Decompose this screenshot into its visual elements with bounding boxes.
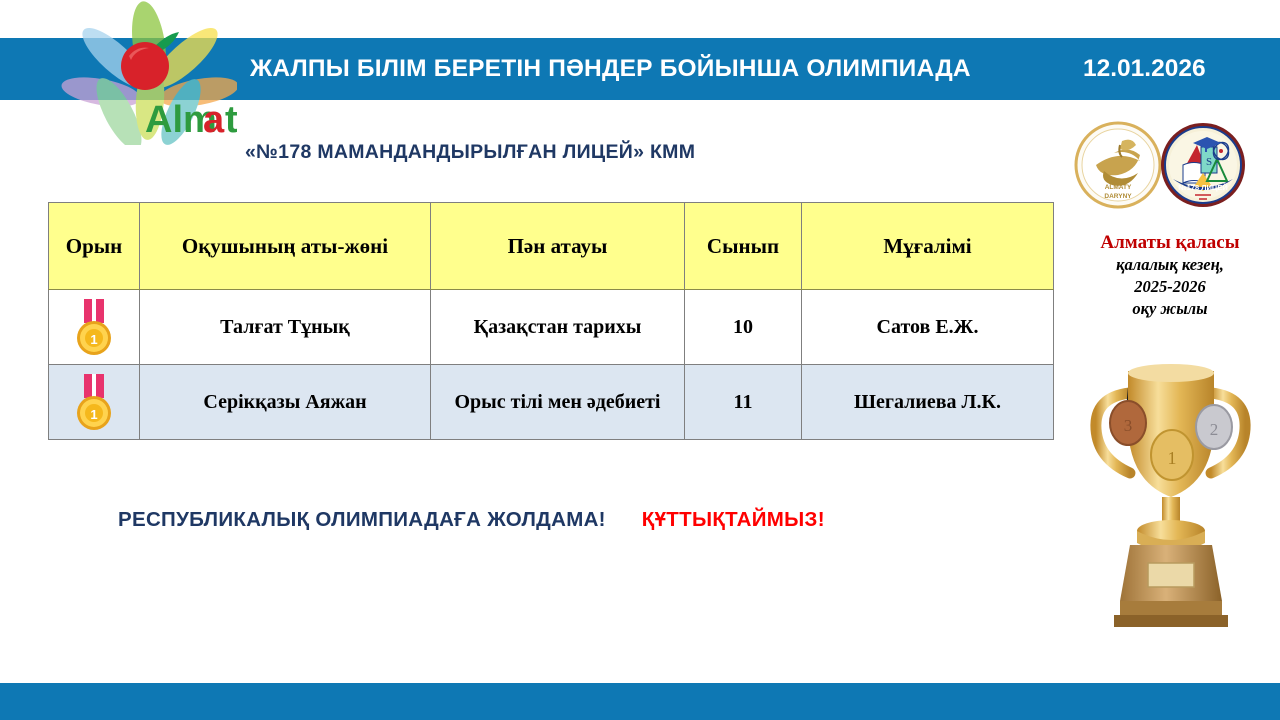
city-label: Алматы қаласы (1060, 232, 1280, 254)
gold-trophy-icon: 3 2 1 (1068, 345, 1273, 635)
column-header-grade: Сынып (685, 203, 802, 290)
svg-text:1: 1 (90, 332, 97, 347)
column-header-place: Орын (49, 203, 140, 290)
column-header-student: Оқушының аты-жөні (140, 203, 431, 290)
svg-text:a: a (203, 99, 225, 141)
svg-text:S: S (1206, 156, 1212, 168)
cell-student: Серікқазы Аяжан (140, 365, 431, 440)
republic-olympiad-message: РЕСПУБЛИКАЛЫҚ ОЛИМПИАДАҒА ЖОЛДАМА! (118, 508, 606, 531)
svg-text:3: 3 (1124, 416, 1133, 435)
svg-text:2: 2 (1210, 420, 1219, 439)
event-date: 12.01.2026 (1083, 52, 1206, 86)
cell-grade: 11 (685, 365, 802, 440)
cell-grade: 10 (685, 290, 802, 365)
cell-student: Талғат Тұнық (140, 290, 431, 365)
svg-text:1: 1 (90, 407, 97, 422)
footer-message-row: РЕСПУБЛИКАЛЫҚ ОЛИМПИАДАҒА ЖОЛДАМА!ҚҰТТЫҚ… (118, 508, 825, 532)
svg-text:1: 1 (1168, 448, 1177, 468)
cell-place: 1 (49, 365, 140, 440)
page-title: ЖАЛПЫ БІЛІМ БЕРЕТІН ПӘНДЕР БОЙЫНША ОЛИМП… (250, 52, 1030, 86)
column-header-subject: Пән атауы (431, 203, 685, 290)
lyceum-178-badge-icon: S №178 ЛИЦЕЙ (1159, 121, 1247, 209)
svg-text:ALMATY: ALMATY (1105, 184, 1132, 191)
footer-banner (0, 683, 1280, 720)
svg-text:№178 ЛИЦЕЙ: №178 ЛИЦЕЙ (1178, 183, 1227, 192)
cell-subject: Қазақстан тарихы (431, 290, 685, 365)
cell-subject: Орыс тілі мен әдебиеті (431, 365, 685, 440)
almaty-daryny-badge-icon: ALMATY DARYNY (1074, 121, 1162, 209)
cell-place: 1 (49, 290, 140, 365)
gold-medal-icon: 1 (49, 372, 139, 432)
almaty-city-logo-icon: Alm a ty (57, 0, 237, 145)
congratulations-message: ҚҰТТЫҚТАЙМЫЗ! (642, 508, 825, 531)
stage-and-year-label: қалалық кезең, 2025-2026 оқу жылы (1060, 254, 1280, 320)
years-label: 2025-2026 (1060, 276, 1280, 298)
table-header-row: Орын Оқушының аты-жөні Пән атауы Сынып М… (49, 203, 1054, 290)
table-row: 1 Серікқазы Аяжан Орыс тілі мен әдебиеті… (49, 365, 1054, 440)
cell-teacher: Шегалиева Л.К. (802, 365, 1054, 440)
cell-teacher: Сатов Е.Ж. (802, 290, 1054, 365)
svg-text:DARYNY: DARYNY (1104, 193, 1132, 200)
gold-medal-icon: 1 (49, 297, 139, 357)
school-year-label: оқу жылы (1060, 298, 1280, 320)
svg-text:ty: ty (225, 99, 237, 141)
column-header-teacher: Мұғалімі (802, 203, 1054, 290)
stage-label: қалалық кезең, (1060, 254, 1280, 276)
slide-canvas: ЖАЛПЫ БІЛІМ БЕРЕТІН ПӘНДЕР БОЙЫНША ОЛИМП… (0, 0, 1280, 720)
school-name: «№178 МАМАНДАНДЫРЫЛҒАН ЛИЦЕЙ» КММ (245, 141, 695, 164)
results-table: Орын Оқушының аты-жөні Пән атауы Сынып М… (48, 202, 1054, 440)
table-row: 1 Талғат Тұнық Қазақстан тарихы 10 Сатов… (49, 290, 1054, 365)
